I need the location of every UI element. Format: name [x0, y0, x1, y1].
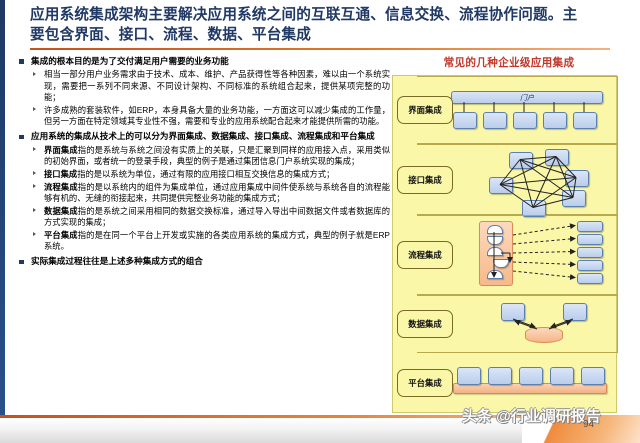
bullet-text: 指的是系统与系统之间没有实质上的关联，只是汇聚到同样的应用接入点，采用类似的初始…: [44, 145, 390, 166]
diagram-row-process-engine-fanout: 流程集成: [393, 215, 618, 295]
slide-canvas: 应用系统集成架构主要解决应用系统之间的互联互通、信息交换、流程协作问题。主要包含…: [0, 0, 640, 443]
row-label-shared-database: 数据集成: [397, 310, 453, 338]
diagram-row-common-platform: 平台集成: [393, 353, 618, 412]
bullet-text: 集成的根本目的是为了交付满足用户需要的业务功能: [31, 56, 229, 66]
bullet-text: 许多成熟的套装软件，如ERP，本身具备大量的业务功能，一方面这可以减少集成的工作…: [44, 105, 390, 126]
bullet-triangle-icon: [33, 184, 36, 188]
bullet-triangle-icon: [33, 232, 36, 236]
page-number: 94: [583, 419, 594, 430]
row-label-portal-hub: 界面集成: [397, 96, 453, 124]
diagram-panel: 界面集成门户接口集成流程集成数据集成平台集成: [392, 75, 617, 413]
content-bullet-list: 集成的根本目的是为了交付满足用户需要的业务功能相当一部分用户业务需求由于技术、成…: [18, 56, 390, 408]
bullet-text: 指的是以系统为单位，通过有限的应用接口相互交换信息的集成方式；: [77, 169, 334, 179]
bullet-triangle-icon: [33, 72, 36, 76]
bullet-triangle-icon: [33, 107, 36, 111]
bullet-text: 相当一部分用户业务需求由于技术、成本、维护、产品获得性等各种因素，难以由一个系统…: [44, 69, 390, 102]
bullet-text: 应用系统的集成从技术上的可以分为界面集成、数据集成、接口集成、流程集成和平台集成: [31, 131, 375, 141]
row-label-point-to-point-mesh: 接口集成: [397, 166, 453, 194]
bullet-text: 指的是以系统内的组件为集成单位，通过应用集成中间件使系统与系统各自的流程能够有机…: [44, 182, 390, 203]
bullet-lead-term: 平台集成: [44, 230, 78, 240]
bullet-triangle-icon: [33, 147, 36, 151]
bullet-triangle-icon: [33, 171, 36, 175]
bullet-level2: 数据集成指的是系统之间采用相同的数据交换标准，通过导入导出中间数据文件或者数据库…: [18, 206, 390, 229]
bullet-level2: 许多成熟的套装软件，如ERP，本身具备大量的业务功能，一方面这可以减少集成的工作…: [18, 105, 390, 128]
bullet-level1: 实际集成过程往往是上述多种集成方式的组合: [18, 256, 390, 267]
left-accent-bar: [0, 0, 5, 418]
bullet-level2: 相当一部分用户业务需求由于技术、成本、维护、产品获得性等各种因素，难以由一个系统…: [18, 69, 390, 103]
row-label-process-engine-fanout: 流程集成: [397, 241, 453, 269]
bullet-level2: 界面集成指的是系统与系统之间没有实质上的关联，只是汇聚到同样的应用接入点，采用类…: [18, 145, 390, 168]
diagram-title: 常见的几种企业级应用集成: [404, 55, 614, 70]
watermark-text: 头条 @行业调研报告: [462, 405, 601, 426]
bullet-triangle-icon: [33, 208, 36, 212]
bullet-level1: 集成的根本目的是为了交付满足用户需要的业务功能: [18, 56, 390, 67]
bullet-lead-term: 数据集成: [44, 206, 78, 216]
title-divider: [30, 48, 610, 50]
bullet-level1: 应用系统的集成从技术上的可以分为界面集成、数据集成、接口集成、流程集成和平台集成: [18, 131, 390, 142]
bullet-square-icon: [19, 59, 24, 64]
bullet-text: 指的是在同一个平台上开发或实施的各类应用系统的集成方式，典型的例子就是ERP系统…: [44, 230, 390, 251]
row-label-common-platform: 平台集成: [397, 369, 453, 397]
bullet-level2: 接口集成指的是以系统为单位，通过有限的应用接口相互交换信息的集成方式；: [18, 169, 390, 180]
bullet-lead-term: 接口集成: [44, 169, 77, 179]
diagram-row-shared-database: 数据集成: [393, 295, 618, 353]
bullet-level2: 平台集成指的是在同一个平台上开发或实施的各类应用系统的集成方式，典型的例子就是E…: [18, 230, 390, 253]
diagram-row-portal-hub: 界面集成门户: [393, 76, 618, 144]
bullet-lead-term: 流程集成: [44, 182, 78, 192]
diagram-row-point-to-point-mesh: 接口集成: [393, 144, 618, 215]
bullet-square-icon: [19, 260, 24, 265]
bullet-level2: 流程集成指的是以系统内的组件为集成单位，通过应用集成中间件使系统与系统各自的流程…: [18, 182, 390, 205]
bullet-text: 指的是系统之间采用相同的数据交换标准，通过导入导出中间数据文件或者数据库的方式实…: [44, 206, 390, 227]
bullet-lead-term: 界面集成: [44, 145, 78, 155]
page-title: 应用系统集成架构主要解决应用系统之间的互联互通、信息交换、流程协作问题。主要包含…: [30, 5, 578, 45]
bullet-square-icon: [19, 135, 24, 140]
bullet-text: 实际集成过程往往是上述多种集成方式的组合: [31, 256, 203, 266]
